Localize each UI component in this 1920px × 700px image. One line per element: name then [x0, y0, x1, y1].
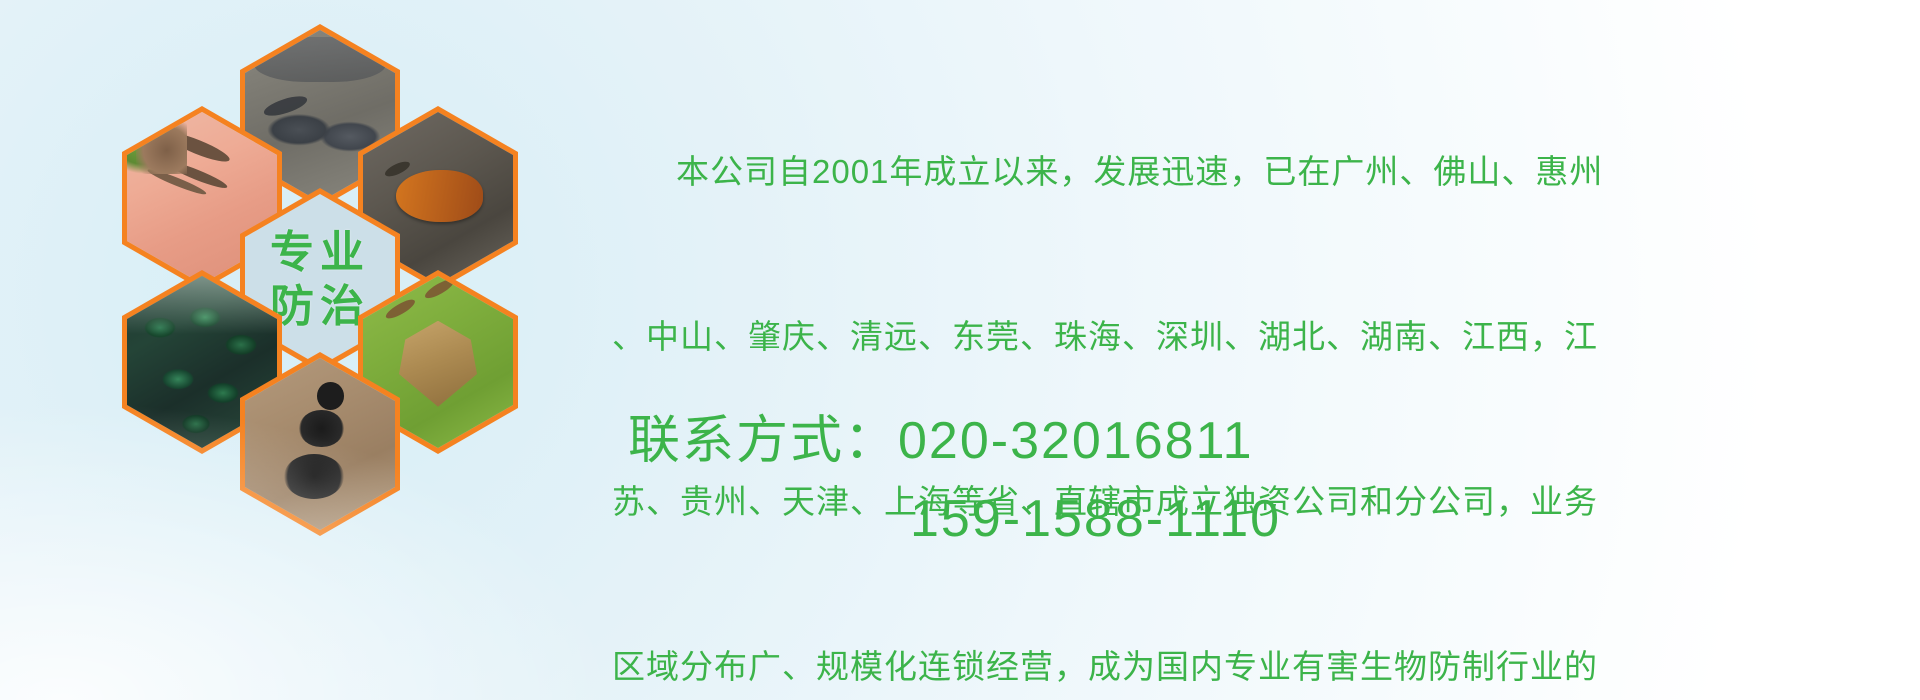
description-line-1: 本公司自2001年成立以来，发展迅速，已在广州、佛山、惠州: [612, 144, 1902, 199]
ant-head: [317, 382, 344, 410]
contact-block: 联系方式：020-32016811 159-1588-1110: [628, 402, 1281, 558]
company-description: 本公司自2001年成立以来，发展迅速，已在广州、佛山、惠州 、中山、肇庆、清远、…: [612, 34, 1902, 700]
logo-line-1: 专业: [270, 231, 370, 275]
promo-banner: 专业 防治 本公司自2001年成立以来，发展迅速，: [0, 0, 1920, 700]
description-line-4: 区域分布广、规模化连锁经营，成为国内专业有害生物防制行业的: [612, 639, 1902, 694]
ant-image: [245, 358, 395, 530]
leaf-blur: [127, 112, 175, 174]
description-line-2: 、中山、肇庆、清远、东莞、珠海、深圳、湖北、湖南、江西，江: [612, 309, 1902, 364]
logo-line-2: 防治: [270, 285, 370, 329]
description-paragraph: 本公司自2001年成立以来，发展迅速，已在广州、佛山、惠州 、中山、肇庆、清远、…: [612, 34, 1902, 700]
ant-photo: [245, 358, 395, 530]
honeycomb-cluster: 专业 防治: [95, 10, 595, 570]
contact-phone-primary[interactable]: 联系方式：020-32016811: [628, 402, 1281, 480]
contact-phone-mobile[interactable]: 159-1588-1110: [628, 480, 1281, 558]
